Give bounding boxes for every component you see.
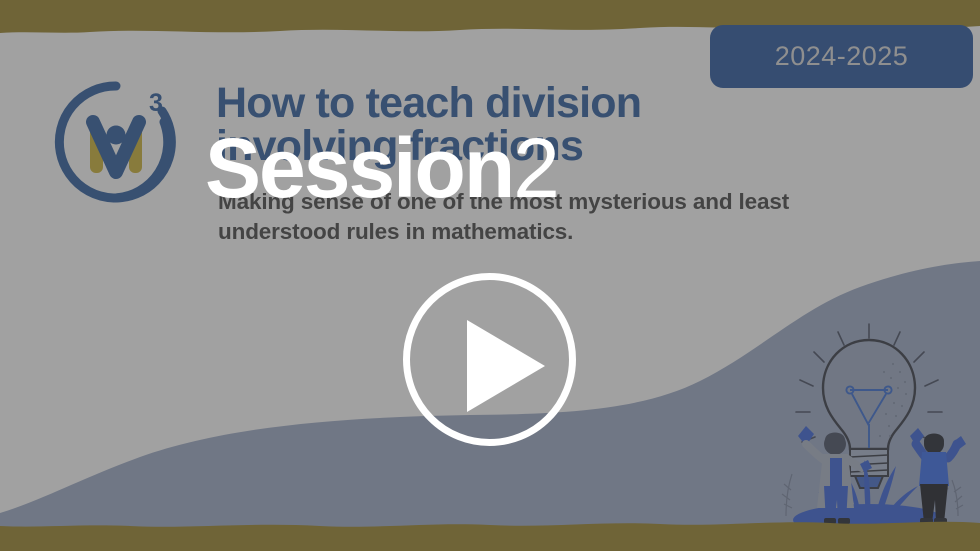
play-triangle-icon — [467, 320, 545, 412]
year-badge-label: 2024-2025 — [775, 41, 909, 72]
gold-band-bottom — [0, 517, 980, 551]
m3-circle-logo: 3 — [52, 78, 180, 206]
overlay-session-word: Session — [205, 121, 513, 215]
overlay-session-number: 2 — [513, 121, 558, 215]
video-thumbnail[interactable]: 3 How to teach division involving fracti… — [0, 0, 980, 551]
play-button[interactable] — [403, 273, 576, 446]
overlay-session-title: Session2 — [205, 126, 558, 210]
lightbulb-idea-illustration — [762, 318, 976, 533]
year-badge: 2024-2025 — [710, 25, 973, 88]
svg-text:3: 3 — [149, 89, 163, 117]
